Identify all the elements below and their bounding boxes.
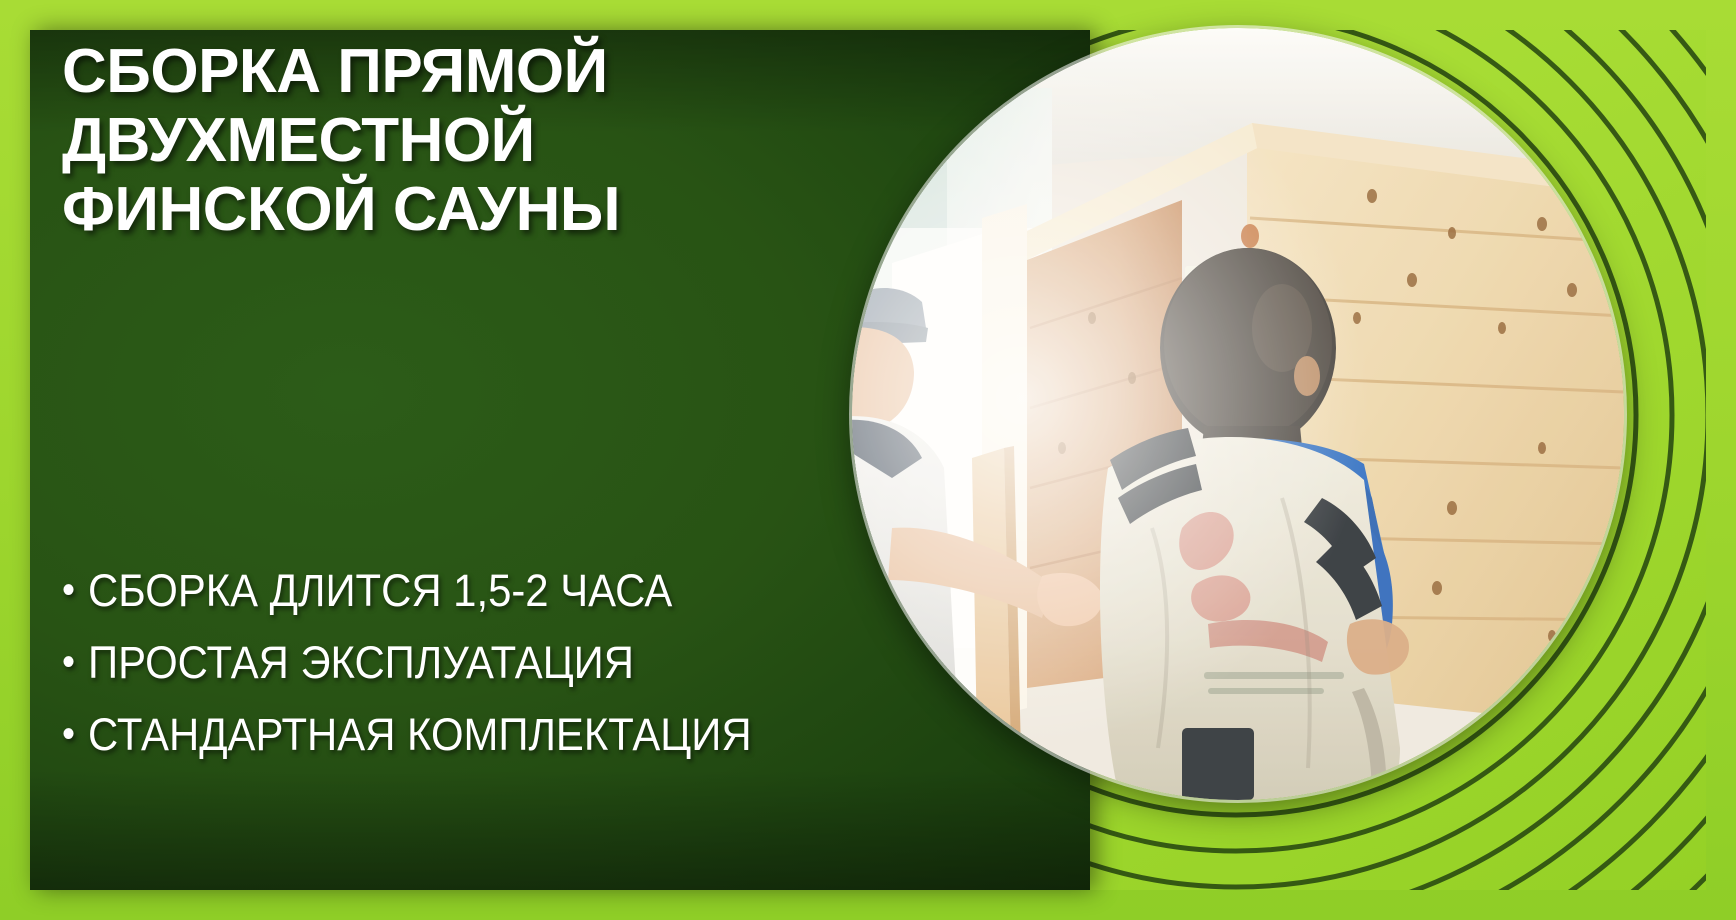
- list-item: • СТАНДАРТНАЯ КОМПЛЕКТАЦИЯ: [62, 712, 752, 757]
- bullet-dot-icon: •: [62, 570, 75, 610]
- list-item-label: ПРОСТАЯ ЭКСПЛУАТАЦИЯ: [88, 640, 634, 685]
- bullet-dot-icon: •: [62, 642, 75, 682]
- sauna-assembly-photo: [852, 28, 1624, 800]
- title-line-2: ДВУХМЕСТНОЙ: [62, 109, 762, 172]
- banner-title: СБОРКА ПРЯМОЙ ДВУХМЕСТНОЙ ФИНСКОЙ САУНЫ: [62, 40, 762, 248]
- list-item-label: СТАНДАРТНАЯ КОМПЛЕКТАЦИЯ: [88, 712, 751, 757]
- bullet-dot-icon: •: [62, 714, 75, 754]
- feature-list: • СБОРКА ДЛИТСЯ 1,5-2 ЧАСА • ПРОСТАЯ ЭКС…: [62, 568, 803, 784]
- list-item: • СБОРКА ДЛИТСЯ 1,5-2 ЧАСА: [62, 568, 752, 613]
- title-line-3: ФИНСКОЙ САУНЫ: [62, 178, 762, 241]
- title-line-1: СБОРКА ПРЯМОЙ: [62, 40, 762, 103]
- list-item-label: СБОРКА ДЛИТСЯ 1,5-2 ЧАСА: [88, 568, 672, 613]
- promo-banner: СБОРКА ПРЯМОЙ ДВУХМЕСТНОЙ ФИНСКОЙ САУНЫ …: [0, 0, 1736, 920]
- photo-illustration: [852, 28, 1624, 800]
- list-item: • ПРОСТАЯ ЭКСПЛУАТАЦИЯ: [62, 640, 752, 685]
